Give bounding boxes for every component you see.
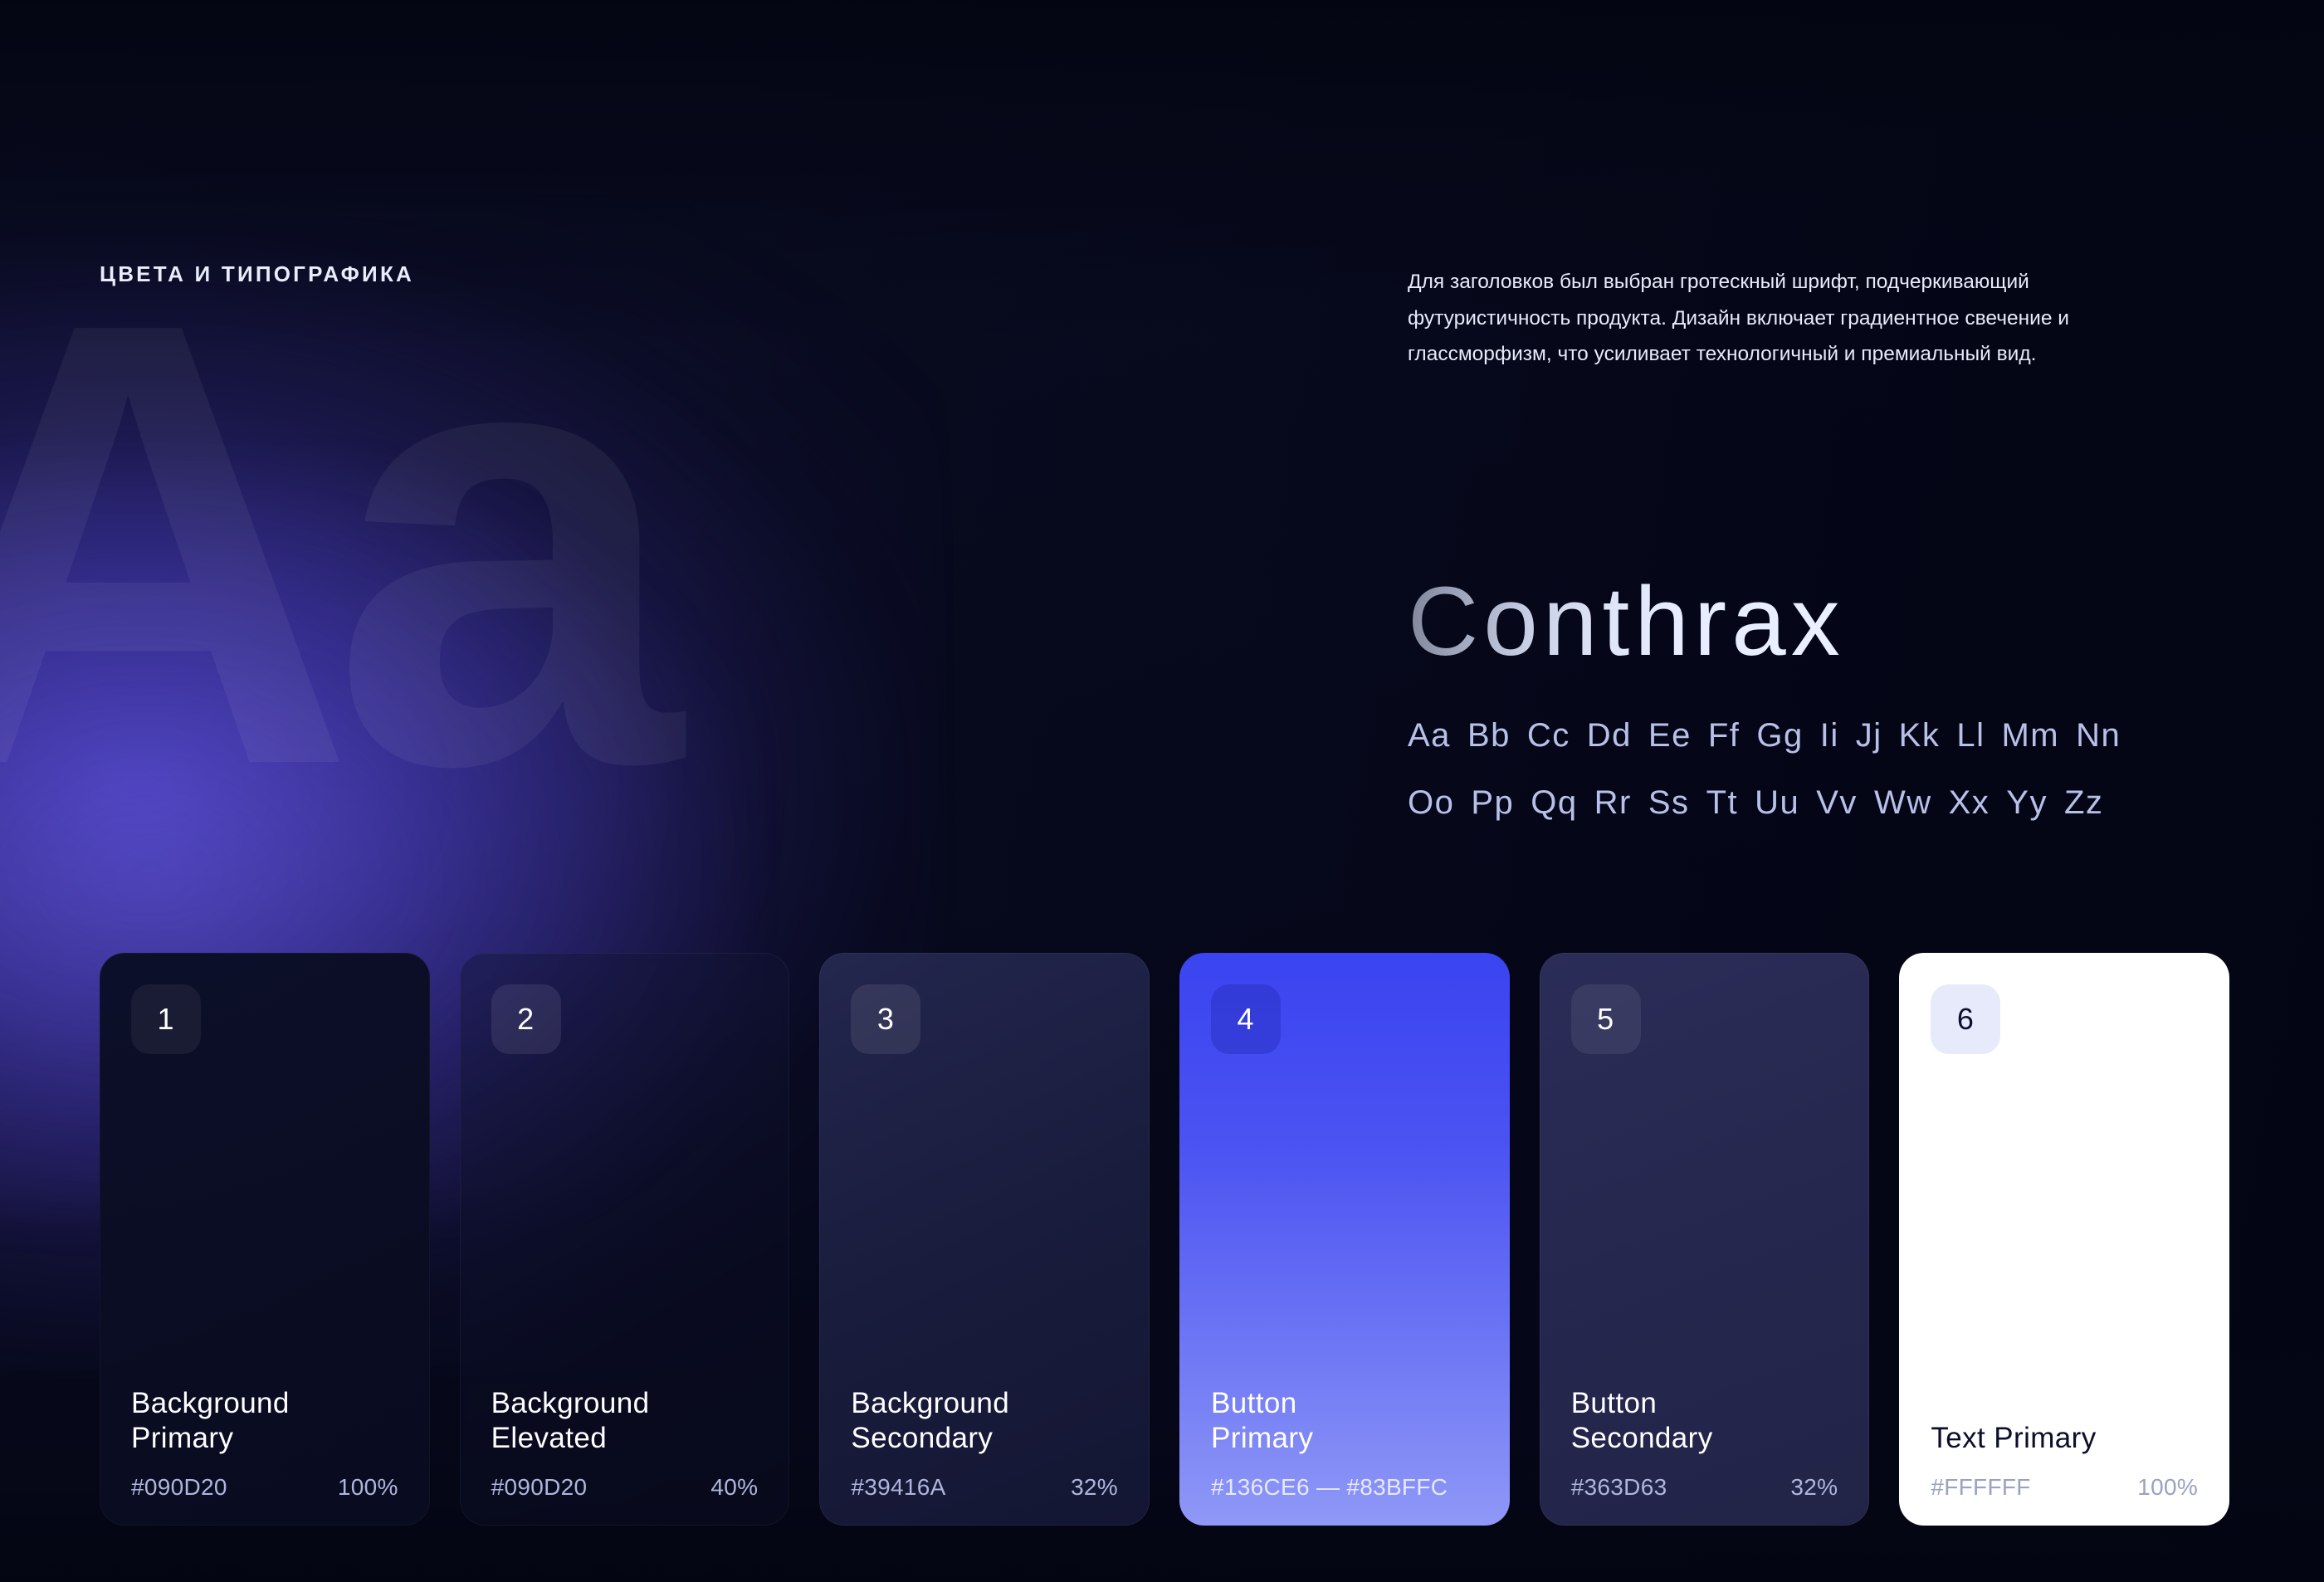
swatch-meta: #136CE6 — #83BFFC [1211,1474,1478,1501]
swatch-opacity: 100% [338,1474,398,1501]
color-palette-row: 1 Background Primary #090D20 100% 2 Back… [100,953,2229,1526]
swatch-hex: #090D20 [491,1474,588,1501]
glyph-pair: Ff [1708,717,1741,754]
swatch-name: Text Primary [1931,1421,2198,1456]
alphabet-row-uppercase-second: OoPpQqRrSsTtUuVvWwXxYyZz [1408,784,2103,822]
glyph-pair: Ss [1648,784,1690,821]
glyph-pair: Nn [2076,717,2121,754]
swatch-opacity: 100% [2137,1474,2198,1501]
color-swatch-card[interactable]: 1 Background Primary #090D20 100% [100,953,430,1526]
color-swatch-card[interactable]: 6 Text Primary #FFFFFF 100% [1899,953,2229,1526]
swatch-number-badge: 6 [1931,984,2000,1054]
swatch-opacity: 32% [1071,1474,1118,1501]
swatch-number-badge: 1 [131,984,201,1054]
section-eyebrow: ЦВЕТА И ТИПОГРАФИКА [100,261,414,287]
section-description: Для заголовков был выбран гротескный шри… [1408,264,2180,373]
swatch-number-badge: 2 [491,984,561,1054]
swatch-hex: #39416A [851,1474,945,1501]
glyph-pair: Cc [1527,717,1570,754]
swatch-meta: #39416A 32% [851,1474,1118,1501]
color-swatch-card[interactable]: 2 Background Elevated #090D20 40% [460,953,790,1526]
glyph-pair: Mm [2001,717,2059,754]
glyph-pair: Ii [1820,717,1839,754]
typeface-name: Conthrax [1408,573,1845,671]
glyph-pair: Pp [1471,784,1514,821]
color-swatch-card[interactable]: 3 Background Secondary #39416A 32% [819,953,1150,1526]
swatch-opacity: 32% [1790,1474,1838,1501]
glyph-pair: Dd [1587,717,1632,754]
swatch-meta: #363D63 32% [1571,1474,1838,1501]
alphabet-row-uppercase-first: AaBbCcDdEeFfGgIiJjKkLlMmNn [1408,717,2121,754]
glyph-pair: Tt [1706,784,1739,821]
glyph-pair: Ee [1648,717,1692,754]
glyph-pair: Rr [1594,784,1632,821]
swatch-hex: #363D63 [1571,1474,1667,1501]
swatch-hex: #FFFFFF [1931,1474,2030,1501]
glyph-pair: Aa [1408,717,1451,754]
glyph-pair: Uu [1755,784,1799,821]
glyph-pair: Kk [1899,717,1941,754]
swatch-hex: #136CE6 — #83BFFC [1211,1474,1478,1501]
swatch-hex: #090D20 [131,1474,227,1501]
swatch-number-badge: 3 [851,984,920,1054]
swatch-name: Background Primary [131,1386,398,1456]
glyph-pair: Jj [1856,717,1882,754]
swatch-meta: #FFFFFF 100% [1931,1474,2198,1501]
glyph-pair: Qq [1531,784,1577,821]
glyph-pair: Ll [1956,717,1985,754]
swatch-name: Button Primary [1211,1386,1478,1456]
swatch-name: Background Secondary [851,1386,1118,1456]
glyph-pair: Xx [1949,784,1990,821]
glyph-pair: Zz [2064,784,2103,821]
swatch-name: Background Elevated [491,1386,759,1456]
design-system-slide: Aa ЦВЕТА И ТИПОГРАФИКА Для заголовков бы… [0,0,2324,1582]
glyph-pair: Ww [1874,784,1932,821]
glyph-pair: Bb [1467,717,1511,754]
glyph-pair: Oo [1408,784,1454,821]
swatch-meta: #090D20 40% [491,1474,759,1501]
swatch-number-badge: 4 [1211,984,1281,1054]
color-swatch-card[interactable]: 5 Button Secondary #363D63 32% [1540,953,1870,1526]
swatch-meta: #090D20 100% [131,1474,398,1501]
glyph-pair: Gg [1756,717,1803,754]
color-swatch-card[interactable]: 4 Button Primary #136CE6 — #83BFFC [1179,953,1510,1526]
glyph-pair: Yy [2006,784,2048,821]
swatch-name: Button Secondary [1571,1386,1838,1456]
swatch-opacity: 40% [710,1474,758,1501]
glyph-pair: Vv [1816,784,1858,821]
swatch-number-badge: 5 [1571,984,1641,1054]
